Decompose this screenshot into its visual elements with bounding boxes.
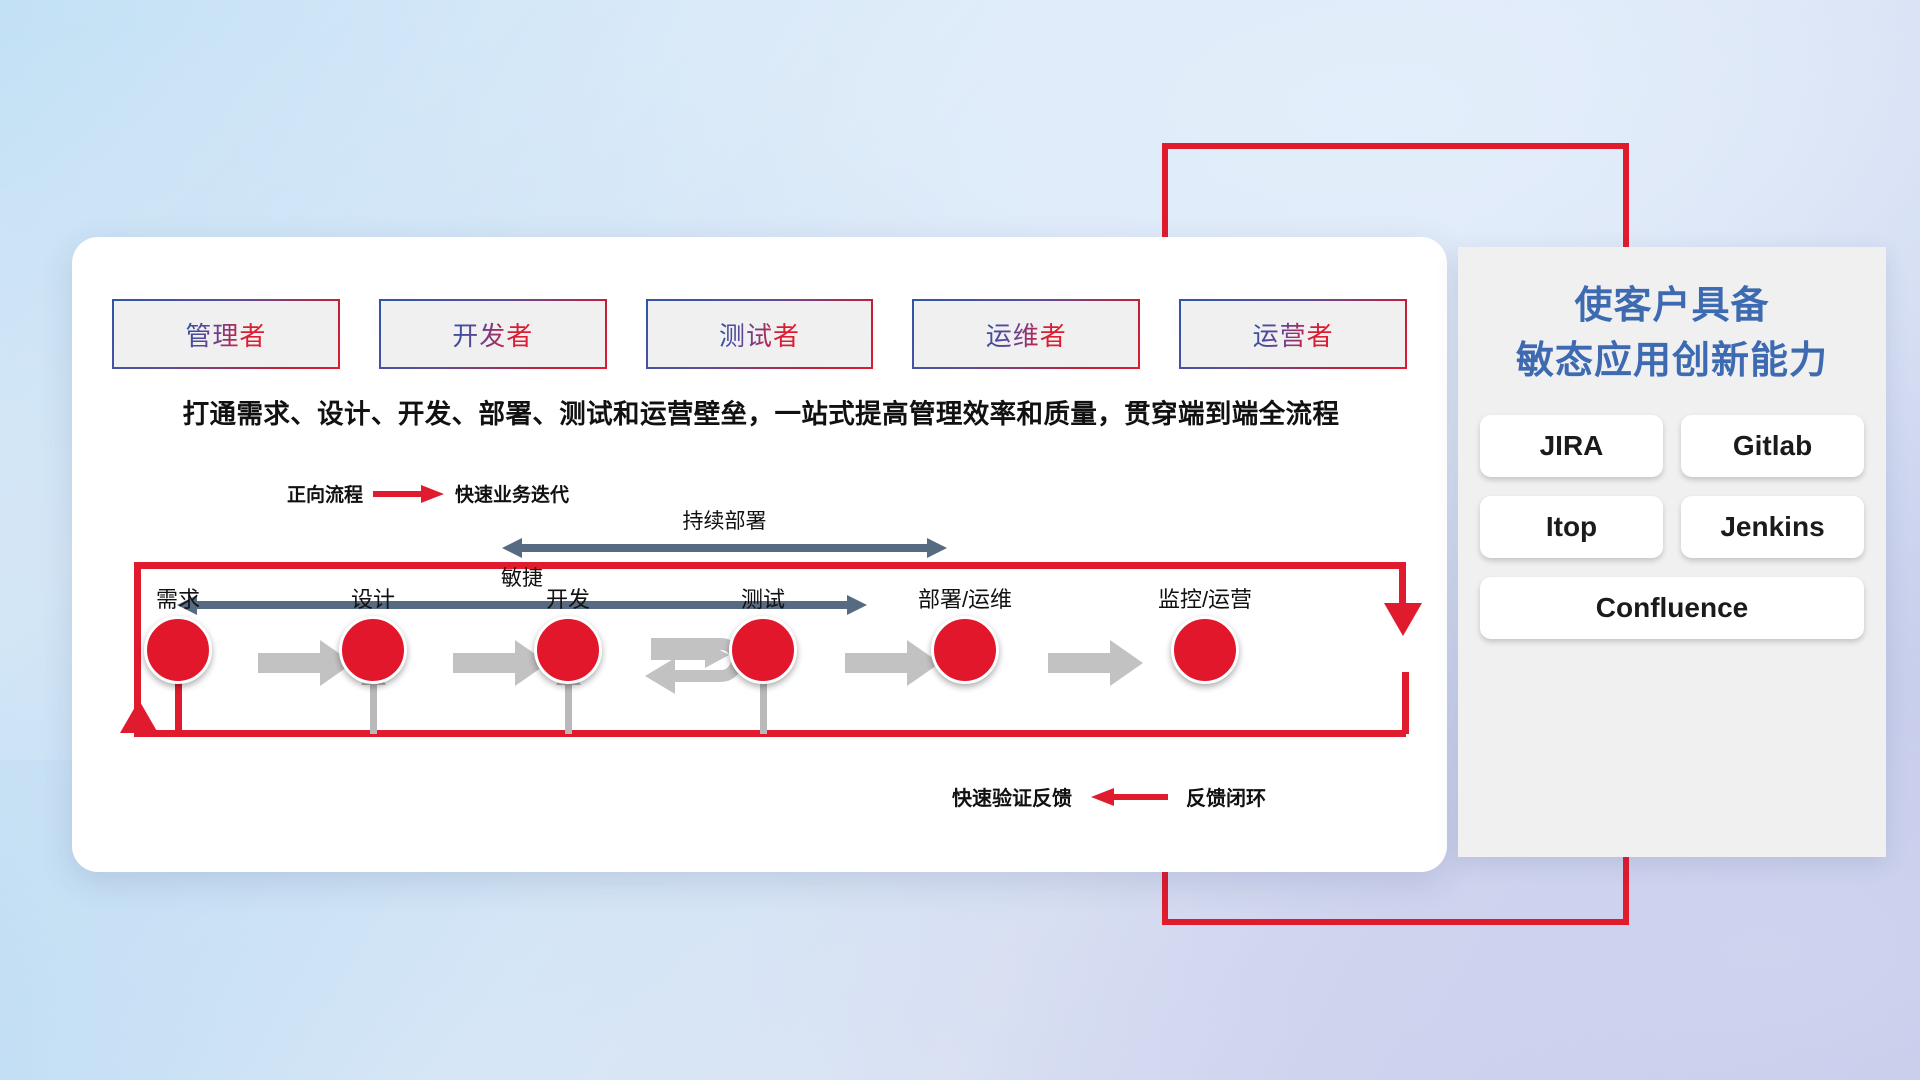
tool-chip-grid: JIRA Gitlab Itop Jenkins Confluence [1480,415,1864,639]
red-loop-bottom [134,730,1406,737]
feedback-label-right: 反馈闭环 [1186,782,1266,811]
gray-right-arrow-icon [1048,640,1143,686]
role-label: 运维者 [986,316,1067,353]
double-arrow-icon [502,537,947,559]
role-label: 运营者 [1253,316,1334,353]
stage-dot [144,616,212,684]
stage-label: 部署/运维 [890,582,1040,614]
pipeline-stage-deploy-ops[interactable]: 部署/运维 [890,582,1040,684]
stage-dot [729,616,797,684]
pipeline-stage-requirements[interactable]: 需求 [103,582,253,684]
red-right-arrow-icon [373,484,445,504]
stage-label: 监控/运营 [1130,582,1280,614]
red-left-arrow-icon [1090,787,1168,807]
panel-title-line1: 使客户具备 [1458,279,1886,334]
tool-chip-itop[interactable]: Itop [1480,496,1663,558]
role-box-ops[interactable]: 运维者 [912,299,1140,369]
main-diagram-card: 管理者 开发者 测试者 运维者 运营者 打通需求、设计、开发、部署、测试和运营壁… [72,237,1447,872]
role-box-manager[interactable]: 管理者 [112,299,340,369]
role-box-tester[interactable]: 测试者 [646,299,874,369]
role-box-operations[interactable]: 运营者 [1179,299,1407,369]
pipeline-stage-monitor-operations[interactable]: 监控/运营 [1130,582,1280,684]
forward-flow-label-right: 快速业务迭代 [455,480,569,507]
feedback-loop-legend: 快速验证反馈 反馈闭环 [952,782,1266,811]
feedback-label-left: 快速验证反馈 [952,782,1072,811]
tool-chip-jira[interactable]: JIRA [1480,415,1663,477]
stage-dot [339,616,407,684]
stage-dot [931,616,999,684]
role-label: 管理者 [185,316,266,353]
tool-chip-jenkins[interactable]: Jenkins [1681,496,1864,558]
stage-dot [1171,616,1239,684]
tool-chip-confluence[interactable]: Confluence [1480,577,1864,639]
stage-label: 设计 [298,582,448,614]
stage-label: 测试 [688,582,838,614]
value-proposition-panel: 使客户具备 敏态应用创新能力 JIRA Gitlab Itop Jenkins … [1458,247,1886,857]
role-box-row: 管理者 开发者 测试者 运维者 运营者 [112,299,1407,369]
panel-title: 使客户具备 敏态应用创新能力 [1458,247,1886,389]
pipeline-stage-development[interactable]: 开发 [493,582,643,684]
role-label: 测试者 [719,316,800,353]
stem-red-monitoring [1402,672,1409,734]
stage-dot [534,616,602,684]
red-bracket-bottom-edge [1162,919,1629,925]
headline-text: 打通需求、设计、开发、部署、测试和运营壁垒，一站式提高管理效率和质量，贯穿端到端… [116,392,1406,431]
role-box-developer[interactable]: 开发者 [379,299,607,369]
continuous-deployment-band: 持续部署 [502,505,947,564]
continuous-deployment-label: 持续部署 [502,505,947,535]
pipeline-stage-design[interactable]: 设计 [298,582,448,684]
stage-label: 需求 [103,582,253,614]
forward-flow-legend: 正向流程 快速业务迭代 [287,480,569,507]
tool-chip-gitlab[interactable]: Gitlab [1681,415,1864,477]
forward-flow-label-left: 正向流程 [287,480,363,507]
pipeline-row: 需求 设计 开发 测试 [112,582,1412,712]
role-label: 开发者 [452,316,533,353]
stage-label: 开发 [493,582,643,614]
pipeline-stage-testing[interactable]: 测试 [688,582,838,684]
panel-title-line2: 敏态应用创新能力 [1458,334,1886,389]
